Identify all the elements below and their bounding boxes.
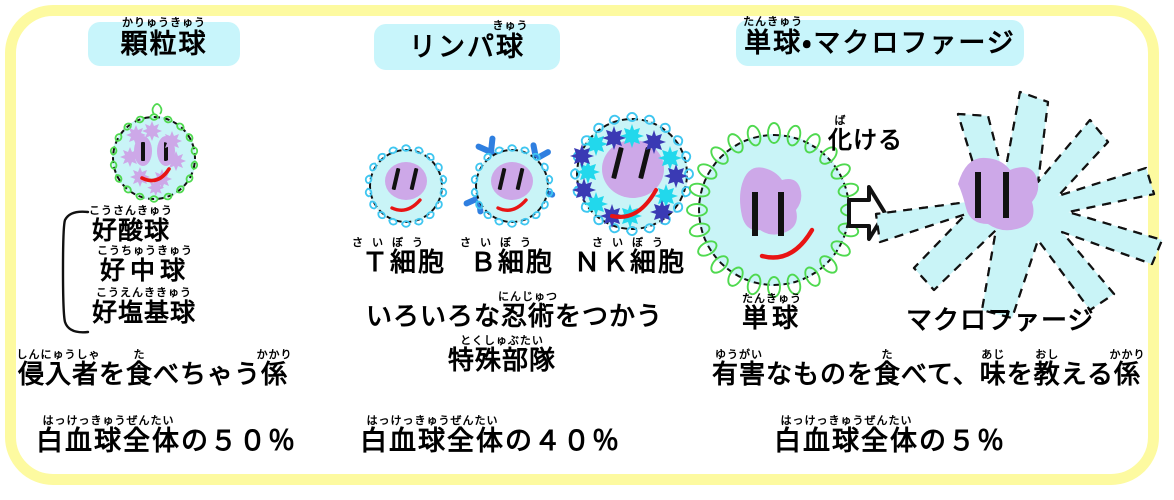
ruby-text: さいぼう [352,237,432,248]
ruby-text: おし [1035,349,1059,360]
role-part: べて、 [901,360,980,390]
ruby-text: はっけっきゅうぜんたい [781,415,913,426]
lymphocyte-role-2: とくしゅぶたい特殊部隊 [448,348,556,374]
macrophage-cell [862,72,1172,320]
header-title-granulocyte: 顆粒球 [121,29,208,60]
ruby-text: かりゅうきゅう [122,17,206,28]
header-title-monocyte: 単球 [744,28,802,59]
b-cell [462,136,562,236]
percent-label: 白血球全体 [36,426,181,457]
granulocyte-subtype-0: こうさんきゅう好酸球 [92,218,170,243]
cell-label: 単球 [742,304,802,334]
ruby-text: ゆうがい [715,349,763,360]
granulocyte-cell [104,108,204,208]
granulocyte-subtype-1: こうちゅうきゅう好中球 [100,258,190,283]
cell-label: Ｂ細胞 [470,248,554,278]
percent-label: 白血球全体 [360,426,505,457]
role-part: 食 [126,360,153,390]
ruby-text: しんにゅうしゃ [17,349,101,360]
role-part: 係 [261,360,288,390]
column-granulocyte: かりゅうきゅう 顆粒球 [0,0,352,500]
percent-value: の５０％ [181,426,297,457]
subtype-label: 好中球 [100,256,190,285]
ruby-text: にんじゅつ [498,291,558,302]
role-part: 忍術 [501,302,555,332]
percent-label: 白血球全体 [774,426,919,457]
role-part: べちゃう [153,360,261,390]
role-part: 教 [1034,360,1061,390]
role-part: 食 [874,360,901,390]
header-pill-monocyte: たんきゅう単球・マクロファージ [736,20,1024,66]
nucleus [602,140,664,198]
header-ruby-group: かりゅうきゅう 顆粒球 [121,31,208,58]
macrophage-shape-icon [862,72,1172,320]
ruby-text: ば [835,115,847,126]
role-label: 特殊部隊 [448,346,556,376]
ruby-text: かかり [257,349,293,360]
role-part: 侵入者 [18,360,99,390]
ruby-text: こうちゅうきゅう [97,245,193,256]
granulocyte-role: しんにゅうしゃ侵入者をた食べちゃうかかり係 [18,362,288,388]
column-monocyte: たんきゅう単球・マクロファージ [682,0,1174,500]
ruby-text: こうえんききゅう [96,287,192,298]
monocyte-role: ゆうがい有害なものをた食べて、あじ味をおし教えるかかり係 [712,362,1141,388]
transform-kanji: 化 [828,126,853,154]
label-nk-cell: ＮＫ細胞 さいぼう [574,250,686,276]
eye-right [164,142,168,161]
header-title-prefix: リンパ [409,32,496,63]
nk-cell [564,106,700,242]
role-part: を [1007,360,1034,390]
header-title-macrophage: ・マクロファージ [802,28,1016,59]
ruby-text: あじ [981,349,1005,360]
ruby-text: た [882,349,894,360]
role-part: を [99,360,126,390]
eye-left [141,142,145,161]
label-t-cell: Ｔ細胞 さいぼう [362,250,446,276]
monocyte-percent: はっけっきゅうぜんたい白血球全体の５％ [774,428,1006,455]
ruby-text: きゅう [493,20,529,31]
header-pill-lymphocyte: リンパきゅう球 [374,24,560,70]
label-monocyte: たんきゅう単球 [742,306,802,332]
role-part: をつかう [555,302,663,332]
label-macrophage: マクロファージ [906,308,1094,334]
cell-label: Ｔ細胞 [362,248,446,278]
ruby-text: はっけっきゅうぜんたい [367,415,499,426]
ruby-text: た [134,349,146,360]
header-title-lymphocyte: 球 [496,32,525,63]
nucleus [385,162,427,200]
subtype-label: 好塩基球 [92,298,196,327]
role-part: いろいろな [366,302,501,332]
column-lymphocyte: リンパきゅう球 [352,0,682,500]
percent-value: の５％ [919,426,1006,457]
cell-label: マクロファージ [906,306,1094,336]
ruby-text: はっけっきゅうぜんたい [43,415,175,426]
t-cell [360,140,452,232]
ruby-text: こうさんきゅう [89,205,173,216]
ruby-text: とくしゅぶたい [460,335,544,346]
cell-label: ＮＫ細胞 [574,248,686,278]
role-part: なものを [766,360,874,390]
cell-membrane [112,116,196,200]
cell-membrane [698,134,850,286]
role-part: 有害 [712,360,766,390]
role-part: 味 [980,360,1007,390]
lymphocyte-percent: はっけっきゅうぜんたい白血球全体の４０％ [360,428,621,455]
granulocyte-subtype-2: こうえんききゅう好塩基球 [92,300,196,325]
bracket-icon [52,208,92,343]
nucleus [491,162,533,200]
subtype-label: 好酸球 [92,216,170,245]
label-b-cell: Ｂ細胞 さいぼう [470,250,554,276]
ruby-text: さいぼう [592,237,672,248]
ruby-text: さいぼう [460,237,540,248]
lymphocyte-role: いろいろなにんじゅつ忍術をつかう [366,304,663,330]
granulocyte-percent: はっけっきゅうぜんたい白血球全体の５０％ [36,428,297,455]
role-part: える [1061,360,1114,390]
ruby-text: かかり [1110,349,1146,360]
ruby-text: たんきゅう [742,293,802,304]
percent-value: の４０％ [505,426,621,457]
ruby-text: たんきゅう [743,16,803,27]
header-pill-granulocyte: かりゅうきゅう 顆粒球 [88,22,240,66]
role-part: 係 [1114,360,1141,390]
